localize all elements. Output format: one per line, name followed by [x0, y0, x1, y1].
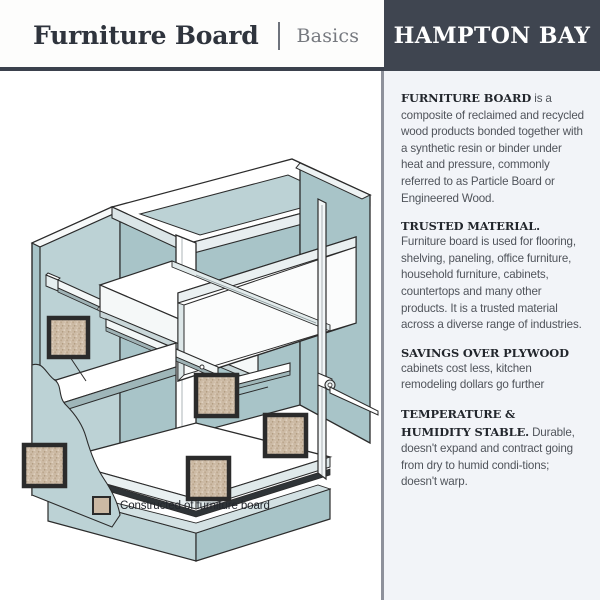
swatch-right	[265, 415, 306, 456]
title-separator	[278, 22, 280, 50]
description-paragraph: Furniture board is used for flooring, sh…	[401, 234, 586, 334]
swatch-left-lower	[24, 445, 65, 486]
description-paragraph: FURNITURE BOARD is a composite of reclai…	[401, 90, 586, 207]
header-title-area: Furniture Board Basics	[0, 0, 384, 71]
page-subtitle: Basics	[297, 25, 360, 47]
swatch-left-upper	[49, 318, 88, 357]
description-panel: FURNITURE BOARD is a composite of reclai…	[384, 71, 600, 600]
furniture-board-swatch-icon	[92, 496, 111, 515]
description-body: is a composite of reclaimed and recycled…	[401, 92, 584, 205]
brand-name: HAMPTON BAY	[394, 23, 591, 49]
brand-banner: HAMPTON BAY	[384, 0, 600, 71]
product-info-card: Furniture Board Basics HAMPTON BAY	[0, 0, 600, 600]
description-block: TRUSTED MATERIAL.Furniture board is used…	[401, 219, 586, 334]
description-body: Furniture board is used for flooring, sh…	[401, 235, 582, 331]
description-block: TEMPERATURE & HUMIDITY STABLE. Durable, …	[401, 406, 586, 491]
description-paragraph: TEMPERATURE & HUMIDITY STABLE. Durable, …	[401, 406, 586, 491]
description-body: cabinets cost less, kitchen remodeling d…	[401, 362, 544, 392]
cabinet-illustration	[0, 75, 384, 600]
description-heading: TEMPERATURE & HUMIDITY STABLE.	[401, 407, 529, 439]
swatch-center	[196, 375, 237, 416]
description-block: SAVINGS OVER PLYWOODcabinets cost less, …	[401, 346, 586, 394]
legend: Constructed of furniture board	[92, 496, 270, 515]
description-heading: SAVINGS OVER PLYWOOD	[401, 346, 586, 360]
description-block: FURNITURE BOARD is a composite of reclai…	[401, 90, 586, 207]
description-heading: TRUSTED MATERIAL.	[401, 219, 586, 233]
description-heading: FURNITURE BOARD	[401, 91, 531, 105]
card-header: Furniture Board Basics HAMPTON BAY	[0, 0, 600, 71]
swatch-bottom	[188, 458, 229, 499]
legend-label: Constructed of furniture board	[120, 500, 270, 512]
description-paragraph: cabinets cost less, kitchen remodeling d…	[401, 361, 586, 394]
page-title: Furniture Board	[33, 21, 259, 50]
cabinet-diagram-svg	[0, 75, 384, 600]
